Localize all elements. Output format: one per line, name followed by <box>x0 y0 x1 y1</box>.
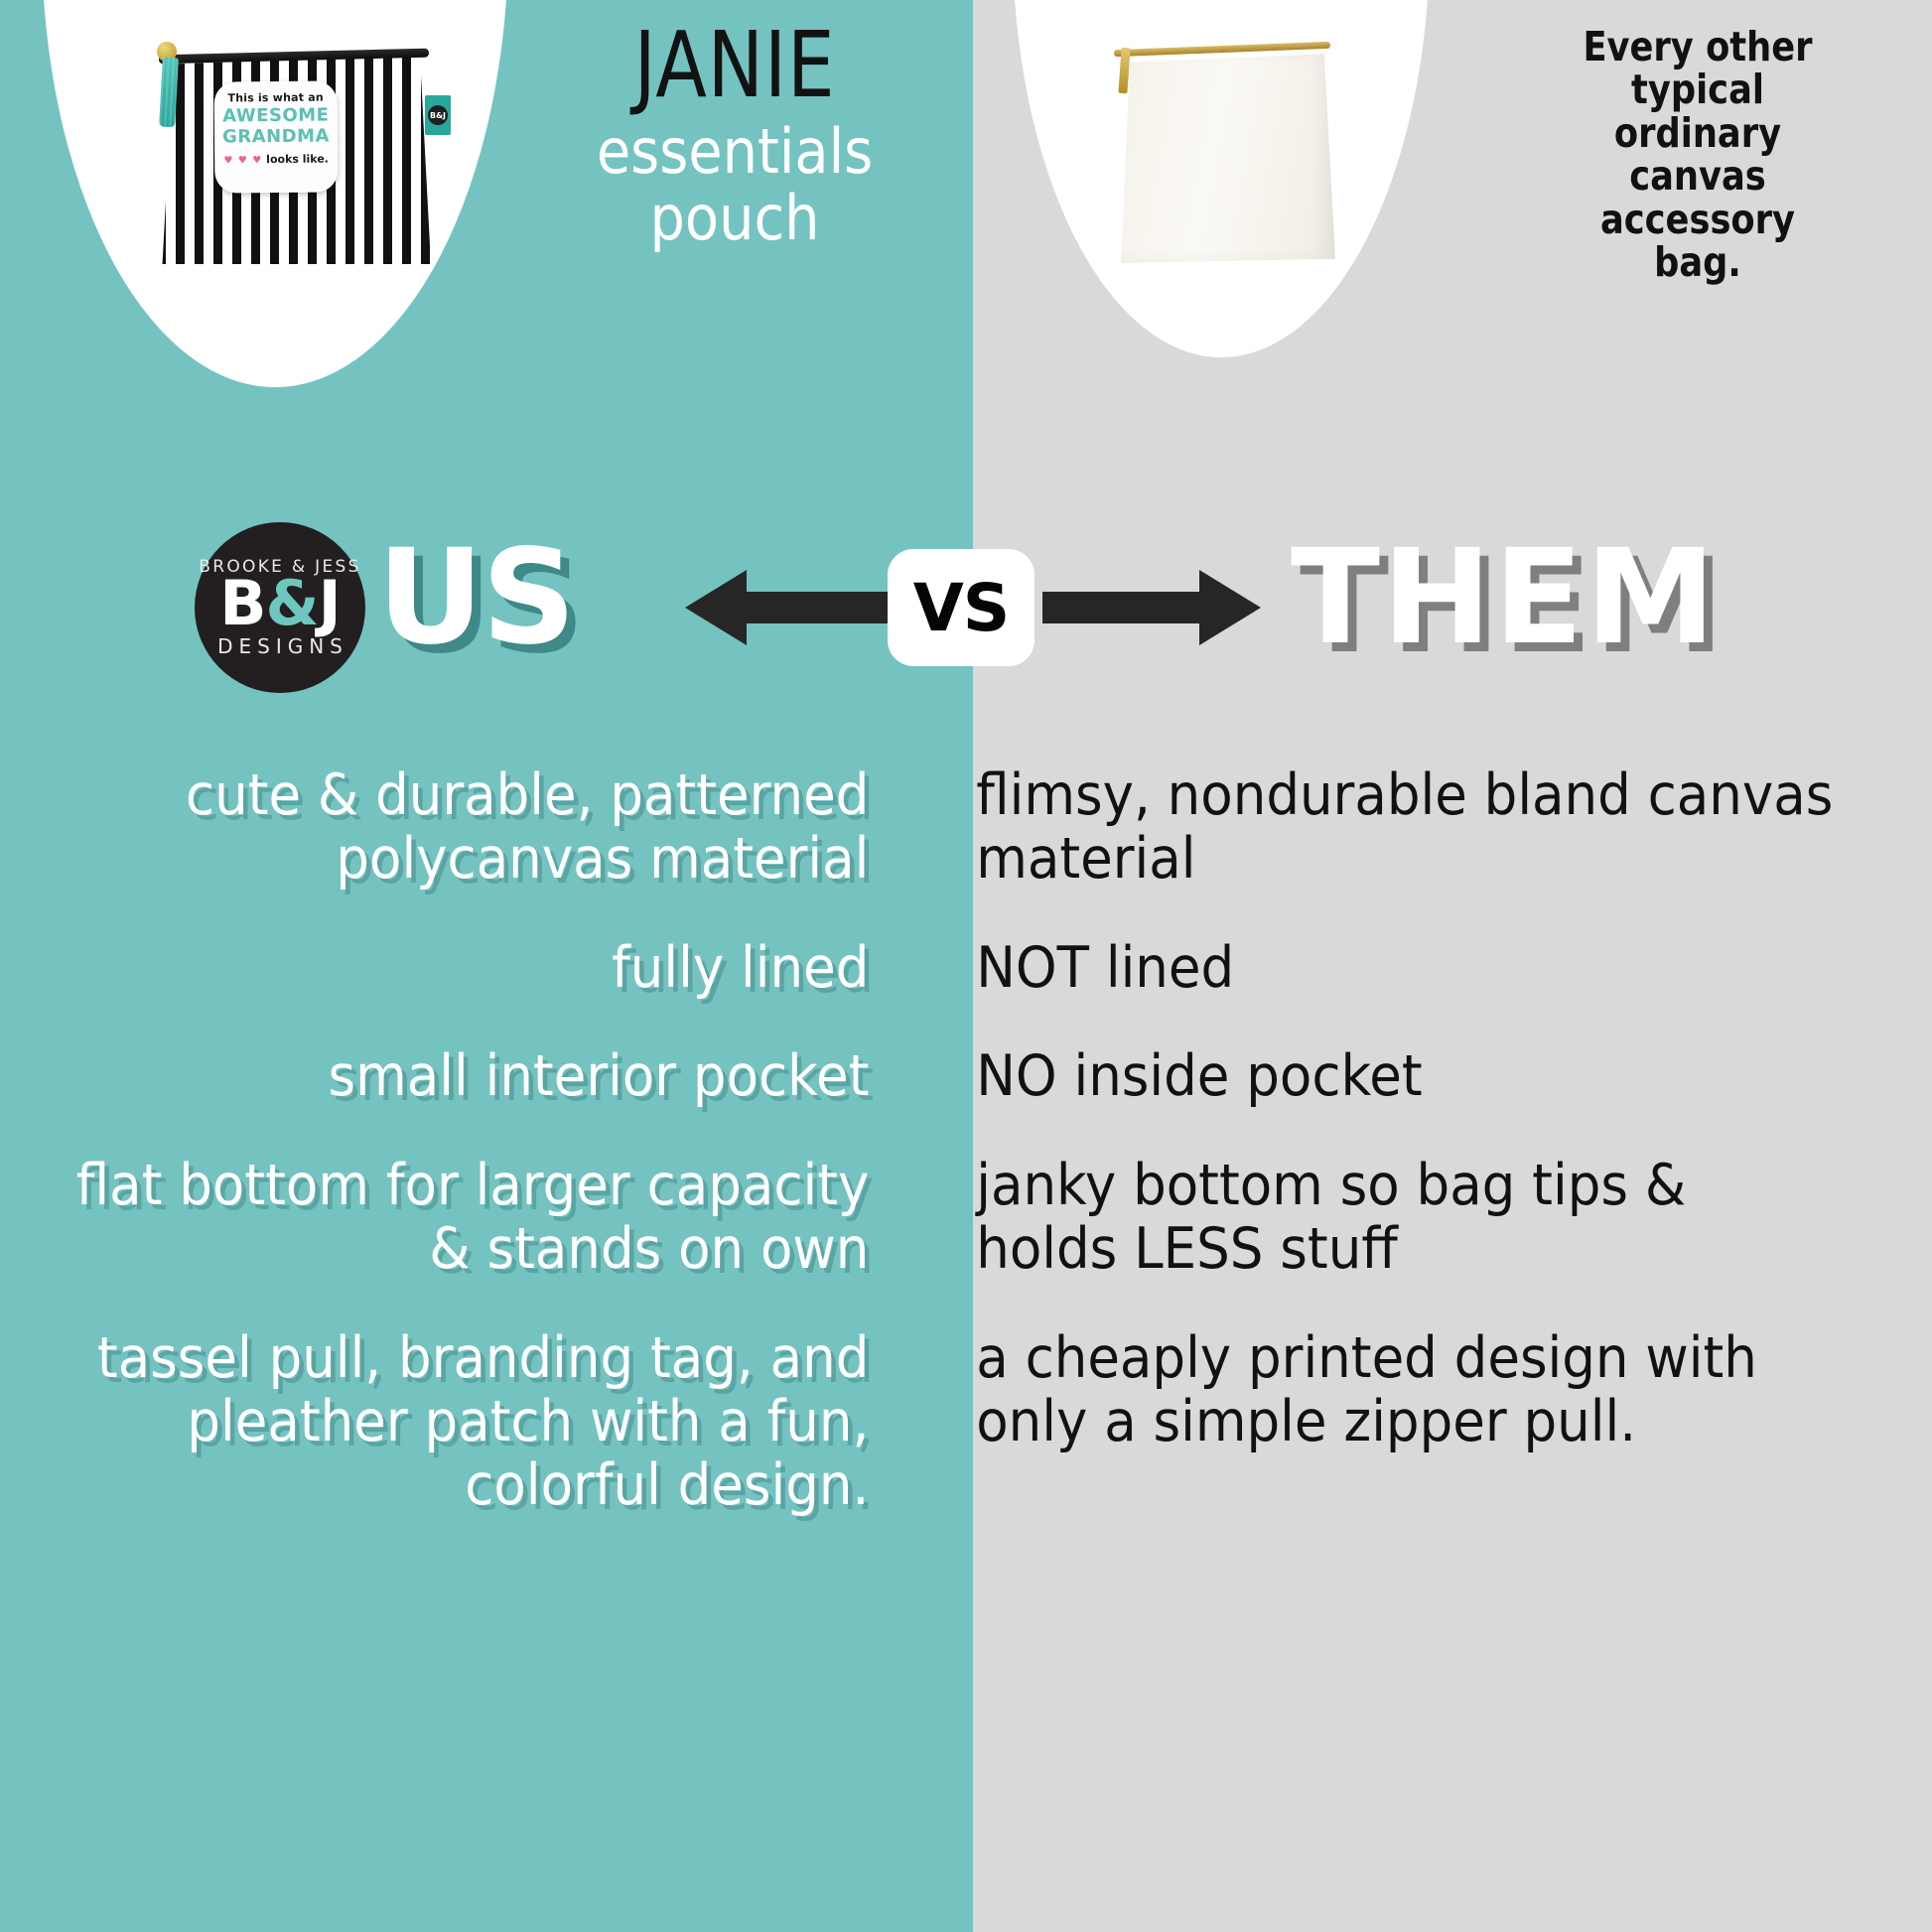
canvas-bag-zipper <box>1114 42 1330 57</box>
competitor-description-line: bag. <box>1518 241 1876 284</box>
them-feature-text: a cheaply printed design with only a sim… <box>913 1327 1861 1517</box>
arrow-right-icon <box>1042 570 1261 645</box>
them-feature-text: flimsy, nondurable bland canvas material <box>913 764 1861 892</box>
patch-line-1: This is what an <box>214 90 338 104</box>
us-heading: US <box>377 532 574 663</box>
brand-tag: B&J <box>425 95 451 135</box>
patch-line-2b: GRANDMA <box>214 128 338 147</box>
competitor-description-line: accessory <box>1518 199 1876 241</box>
logo-bottom-text: DESIGNS <box>211 634 348 658</box>
logo-monogram: B&J <box>219 579 340 629</box>
competitor-description-line: typical <box>1518 69 1876 111</box>
us-feature-text: small interior pocket <box>64 1045 913 1109</box>
us-feature-text: flat bottom for larger capacity & stands… <box>64 1155 913 1282</box>
logo-letter-b: B <box>219 567 265 639</box>
competitor-description-line: Every other <box>1518 26 1876 69</box>
subtitle-line-2: pouch <box>520 186 949 252</box>
brand-logo: BROOKE & JESS B&J DESIGNS <box>195 522 365 693</box>
janie-pouch-image: This is what an AWESOME GRANDMA ♥ ♥ ♥ lo… <box>129 30 457 268</box>
us-feature-text: tassel pull, branding tag, and pleather … <box>64 1327 913 1517</box>
page-title: JANIE <box>564 22 905 108</box>
arrow-left-icon <box>685 570 903 645</box>
logo-ampersand: & <box>266 567 319 639</box>
comparison-row: cute & durable, patterned polycanvas mat… <box>0 764 1932 892</box>
us-feature-text: cute & durable, patterned polycanvas mat… <box>64 764 913 892</box>
comparison-row: small interior pocket NO inside pocket <box>0 1045 1932 1109</box>
comparison-row: flat bottom for larger capacity & stands… <box>0 1155 1932 1282</box>
comparison-list: cute & durable, patterned polycanvas mat… <box>0 764 1932 1563</box>
canvas-bag-zipper-pull-icon <box>1118 48 1130 94</box>
logo-letter-j: J <box>319 567 341 639</box>
competitor-description: Every other typical ordinary canvas acce… <box>1518 26 1876 285</box>
us-vs-them-band: BROOKE & JESS B&J DESIGNS US VS THEM <box>0 526 1932 675</box>
them-feature-text: NOT lined <box>913 937 1861 1001</box>
competitor-description-line: ordinary <box>1518 112 1876 155</box>
them-heading: THEM <box>1291 532 1718 663</box>
vs-badge: VS <box>888 549 1035 666</box>
competitor-description-line: canvas <box>1518 155 1876 198</box>
page-subtitle: essentials pouch <box>520 119 949 252</box>
comparison-row: tassel pull, branding tag, and pleather … <box>0 1327 1932 1517</box>
patch-line-3: ♥ ♥ ♥ looks like. <box>214 152 338 166</box>
canvas-bag-body <box>1112 50 1335 263</box>
them-feature-text: NO inside pocket <box>913 1045 1861 1109</box>
subtitle-line-1: essentials <box>520 119 949 186</box>
patch-line-3-text: looks like. <box>266 152 329 166</box>
us-feature-text: fully lined <box>64 937 913 1001</box>
them-feature-text: janky bottom so bag tips & holds LESS st… <box>913 1155 1861 1282</box>
comparison-row: fully lined NOT lined <box>0 937 1932 1001</box>
hearts-icon: ♥ ♥ ♥ <box>223 155 262 166</box>
comparison-infographic: This is what an AWESOME GRANDMA ♥ ♥ ♥ lo… <box>0 0 1932 1932</box>
brand-tag-label: B&J <box>428 105 448 125</box>
patch-line-2a: AWESOME <box>214 106 338 125</box>
plain-canvas-bag-image <box>1102 20 1350 268</box>
pleather-patch: This is what an AWESOME GRANDMA ♥ ♥ ♥ lo… <box>214 80 339 193</box>
